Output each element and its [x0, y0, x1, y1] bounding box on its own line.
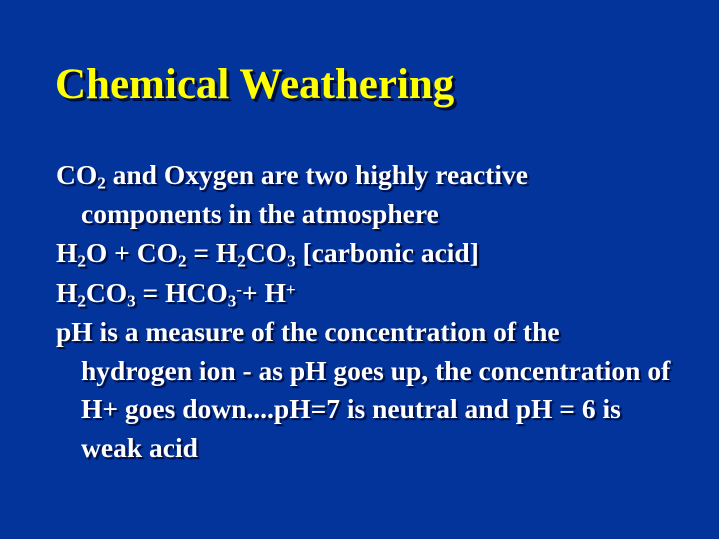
text-run: H: [56, 277, 77, 308]
text-run: CO: [246, 237, 287, 268]
subscript: 3: [228, 291, 237, 310]
text-run: CO: [56, 159, 97, 190]
text-run: H: [56, 237, 77, 268]
presentation-slide: Chemical Weathering CO2 and Oxygen are t…: [0, 0, 719, 539]
page-title: Chemical Weathering: [55, 62, 454, 108]
subscript: 2: [97, 173, 106, 192]
bullet-text: H2O + CO2 = H2CO3 [carbonic acid]: [56, 237, 479, 268]
bullet-text: H2CO3 = HCO3-+ H+: [56, 277, 296, 308]
text-run: = HCO: [136, 277, 228, 308]
text-run: pH is a measure of the concentration of …: [56, 316, 670, 463]
subscript: 2: [77, 291, 86, 310]
subscript: 3: [287, 251, 296, 270]
bullet-item-1: CO2 and Oxygen are two highly reactive c…: [56, 156, 671, 233]
text-run: = H: [186, 237, 237, 268]
text-run: CO: [86, 277, 127, 308]
subscript: 3: [127, 291, 136, 310]
superscript: +: [286, 279, 296, 298]
bullet-text: CO2 and Oxygen are two highly reactive c…: [56, 159, 528, 229]
bullet-item-4: pH is a measure of the concentration of …: [56, 313, 671, 467]
bullet-item-3: H2CO3 = HCO3-+ H+: [56, 274, 671, 313]
bullet-item-2: H2O + CO2 = H2CO3 [carbonic acid]: [56, 234, 671, 273]
bullet-text: pH is a measure of the concentration of …: [56, 316, 670, 463]
slide-body: CO2 and Oxygen are two highly reactive c…: [56, 156, 671, 468]
text-run: [carbonic acid]: [296, 237, 479, 268]
subscript: 2: [77, 251, 86, 270]
text-run: + H: [242, 277, 286, 308]
text-run: O + CO: [86, 237, 178, 268]
subscript: 2: [237, 251, 246, 270]
text-run: and Oxygen are two highly reactive compo…: [81, 159, 528, 229]
